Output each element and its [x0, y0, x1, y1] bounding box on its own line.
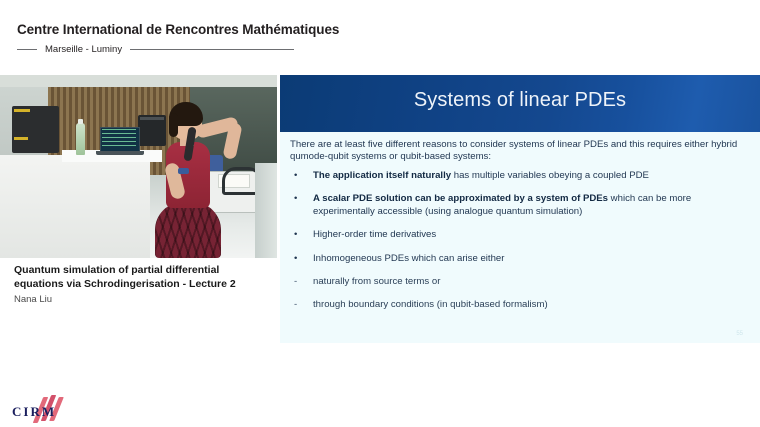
speaker-wristband — [178, 168, 189, 174]
slide-bullet-text: naturally from source terms or — [313, 276, 752, 288]
lectern-desk — [0, 155, 150, 258]
slide-page-number: 55 — [736, 331, 743, 337]
slide-bullet-item: •Higher-order time derivatives — [290, 229, 752, 241]
monitor-sticker-top — [14, 109, 30, 112]
water-bottle-cap — [78, 119, 83, 124]
laptop-keyboard — [96, 151, 144, 155]
slide-bullet-item: •The application itself naturally has mu… — [290, 170, 752, 182]
slide-bullet-text: The application itself naturally has mul… — [313, 170, 752, 182]
institution-subtitle-row: Marseille - Luminy — [17, 42, 317, 56]
slide-intro-paragraph: There are at least five different reason… — [290, 139, 752, 164]
slide-bullet-rest: Inhomogeneous PDEs which can arise eithe… — [313, 253, 504, 264]
bullet-marker-icon: • — [290, 253, 313, 265]
bullet-marker-icon: - — [290, 276, 313, 288]
talk-caption: Quantum simulation of partial differenti… — [14, 264, 269, 305]
slide-bullet-emphasis: A scalar PDE solution can be approximate… — [313, 193, 608, 204]
slide-bullet-rest: through boundary conditions (in qubit-ba… — [313, 299, 548, 310]
slide-bullet-rest: naturally from source terms or — [313, 276, 440, 287]
desk-monitor — [12, 106, 59, 153]
talk-speaker-name: Nana Liu — [14, 294, 269, 305]
slide-title-banner: Systems of linear PDEs — [280, 75, 760, 132]
right-divider-panel — [255, 163, 277, 258]
slide-bullet-item: -through boundary conditions (in qubit-b… — [290, 299, 752, 311]
institution-title: Centre International de Rencontres Mathé… — [17, 22, 339, 37]
cirm-logo[interactable]: CIRM — [12, 395, 92, 425]
slide-body: There are at least five different reason… — [280, 132, 760, 343]
slide-bullet-item: •Inhomogeneous PDEs which can arise eith… — [290, 253, 752, 265]
speaker-video-thumbnail[interactable] — [0, 75, 277, 258]
ceiling-strip — [0, 75, 277, 87]
slide-bullet-text: through boundary conditions (in qubit-ba… — [313, 299, 752, 311]
page-header: Centre International de Rencontres Mathé… — [0, 0, 760, 70]
slide-bullet-text: A scalar PDE solution can be approximate… — [313, 193, 752, 218]
slide-bullet-item: •A scalar PDE solution can be approximat… — [290, 193, 752, 218]
speaker-skirt — [155, 202, 221, 258]
bullet-marker-icon: • — [290, 229, 313, 241]
speaker-hair-side — [169, 113, 178, 137]
slide-bullet-text: Higher-order time derivatives — [313, 229, 752, 241]
institution-location: Marseille - Luminy — [37, 44, 130, 55]
page-footer: CIRM — [0, 343, 760, 427]
divider-right — [130, 49, 294, 50]
bullet-marker-icon: • — [290, 193, 313, 205]
laptop-screen-content — [102, 129, 136, 149]
presentation-slide[interactable]: Systems of linear PDEs There are at leas… — [280, 75, 760, 343]
slide-title: Systems of linear PDEs — [280, 89, 760, 112]
slide-bullet-item: -naturally from source terms or — [290, 276, 752, 288]
talk-title-line-1: Quantum simulation of partial differenti… — [14, 264, 269, 278]
slide-bullet-text: Inhomogeneous PDEs which can arise eithe… — [313, 253, 752, 265]
slide-bullet-emphasis: The application itself naturally — [313, 170, 451, 181]
bullet-marker-icon: • — [290, 170, 313, 182]
divider-left — [17, 49, 37, 50]
monitor-sticker-bottom — [14, 137, 28, 140]
cirm-logo-text: CIRM — [12, 404, 56, 420]
water-bottle — [76, 123, 85, 155]
slide-bullet-rest: has multiple variables obeying a coupled… — [451, 170, 649, 181]
audio-speaker-grille — [140, 117, 164, 120]
slide-bullet-rest: Higher-order time derivatives — [313, 229, 436, 240]
bullet-marker-icon: - — [290, 299, 313, 311]
talk-title-line-2: equations via Schrodingerisation - Lectu… — [14, 278, 269, 292]
slide-bullet-list: •The application itself naturally has mu… — [290, 170, 752, 323]
